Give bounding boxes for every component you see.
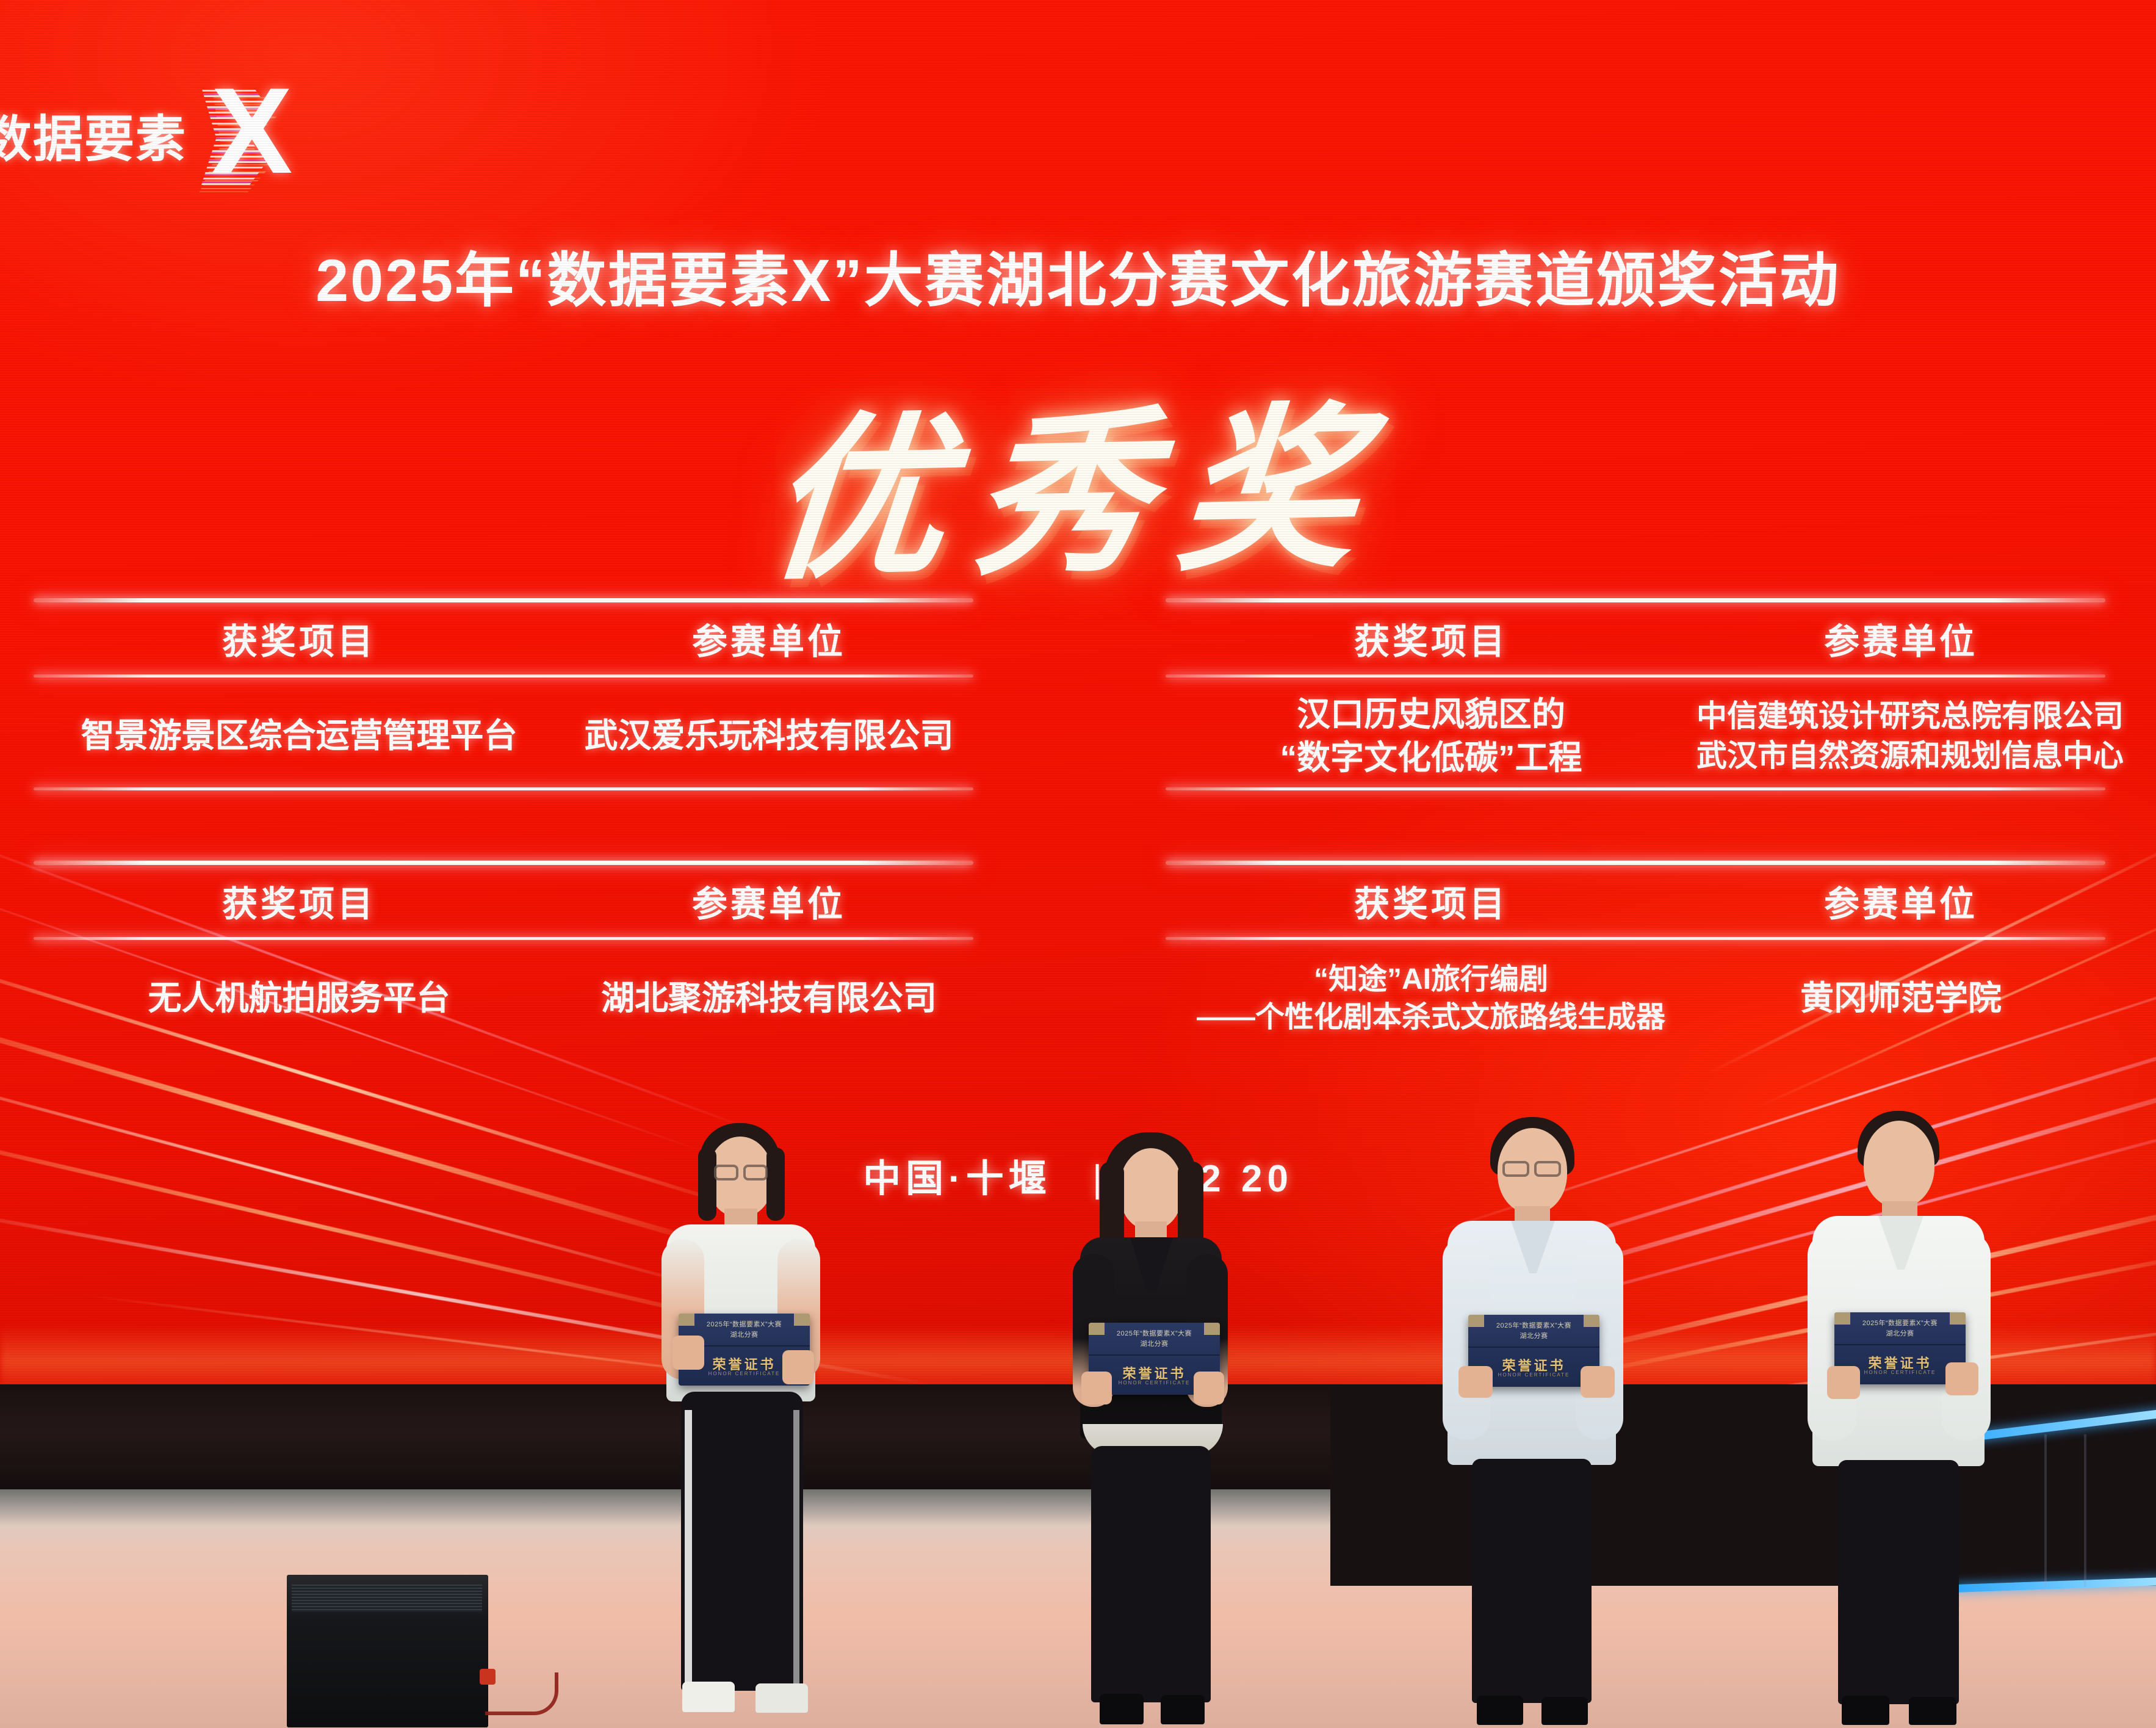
panel-divider xyxy=(2084,1434,2086,1587)
table-header-row: 获奖项目 参赛单位 xyxy=(34,602,973,674)
brand-logo: 数据要素 X xyxy=(0,73,269,195)
awardee-4: 2025年“数据要素X”大赛湖北分赛 荣誉证书 HONOR CERTIFICAT… xyxy=(1800,1111,2002,1727)
event-title: 2025年“数据要素X”大赛湖北分赛文化旅游赛道颁奖活动 xyxy=(0,232,2156,318)
brand-logo-mark: X xyxy=(211,79,303,189)
shoe-right xyxy=(1541,1697,1588,1725)
cell-unit-line: 中信建筑设计研究总院有限公司 xyxy=(1696,696,2105,736)
table-rule-top xyxy=(34,598,973,602)
cell-project-line: 无人机航拍服务平台 xyxy=(34,977,564,1021)
header-project: 获奖项目 xyxy=(1354,622,1508,662)
shoe-right xyxy=(1909,1697,1956,1725)
trousers xyxy=(1838,1460,1959,1704)
header-project: 获奖项目 xyxy=(1354,884,1508,924)
shoe-right xyxy=(1161,1695,1205,1724)
certificate-event-text: 2025年“数据要素X”大赛湖北分赛 xyxy=(1468,1321,1599,1341)
header-unit: 参赛单位 xyxy=(1824,622,1978,662)
table-rule-top xyxy=(1166,861,2105,865)
hand-right xyxy=(1945,1362,1978,1395)
table-rule-mid xyxy=(34,937,973,940)
hand-left xyxy=(1081,1372,1112,1404)
hand-right xyxy=(1194,1372,1224,1404)
hand-left xyxy=(672,1336,704,1370)
hand-right xyxy=(782,1350,814,1384)
glasses-icon xyxy=(1534,1161,1561,1177)
glitch-x-icon: X xyxy=(193,76,269,192)
table-row: 智景游景区综合运营管理平台 武汉爱乐玩科技有限公司 xyxy=(34,678,973,787)
award-table-left-bottom: 获奖项目 参赛单位 无人机航拍服务平台 湖北聚游科技有限公司 xyxy=(34,861,973,1050)
hand-right xyxy=(1581,1366,1615,1398)
table-row: 无人机航拍服务平台 湖北聚游科技有限公司 xyxy=(34,940,973,1050)
cell-unit-line: 黄冈师范学院 xyxy=(1696,977,2105,1021)
power-cable xyxy=(485,1672,558,1715)
ceremony-stage-photo: 数据要素 X 2025年“数据要素X”大赛湖北分赛文化旅游赛道颁奖活动 优秀奖 … xyxy=(0,0,2156,1728)
cell-project-line: ——个性化剧本杀式文旅路线生成器 xyxy=(1166,999,1696,1036)
table-row: 汉口历史风貌区的 “数字文化低碳”工程 中信建筑设计研究总院有限公司 武汉市自然… xyxy=(1166,678,2105,787)
header-unit: 参赛单位 xyxy=(692,622,846,662)
shoe-left xyxy=(682,1682,735,1712)
cell-unit-line: 武汉市自然资源和规划信息中心 xyxy=(1696,736,2105,776)
table-rule-top xyxy=(34,861,973,865)
award-tables: 获奖项目 参赛单位 智景游景区综合运营管理平台 武汉爱乐玩科技有限公司 获奖项目… xyxy=(0,598,2156,1099)
cell-unit-line: 武汉爱乐玩科技有限公司 xyxy=(564,714,973,758)
shoe-right xyxy=(755,1683,808,1713)
certificate-event-text: 2025年“数据要素X”大赛湖北分赛 xyxy=(1089,1329,1220,1349)
table-header-row: 获奖项目 参赛单位 xyxy=(1166,602,2105,674)
cell-project-line: 智景游景区综合运营管理平台 xyxy=(34,714,564,758)
cell-unit-line: 湖北聚游科技有限公司 xyxy=(564,977,973,1021)
panel-divider xyxy=(2044,1434,2047,1587)
cell-project-line: “数字文化低碳”工程 xyxy=(1166,736,1696,780)
award-table-left-top: 获奖项目 参赛单位 智景游景区综合运营管理平台 武汉爱乐玩科技有限公司 xyxy=(34,598,973,790)
certificate-event-text: 2025年“数据要素X”大赛湖北分赛 xyxy=(1834,1318,1966,1339)
award-table-right-top: 获奖项目 参赛单位 汉口历史风貌区的 “数字文化低碳”工程 中信建筑设计研究总院… xyxy=(1166,598,2105,790)
awardee-1: 2025年“数据要素X”大赛湖北分赛 荣誉证书 HONOR CERTIFICAT… xyxy=(647,1123,842,1727)
glasses-icon xyxy=(1502,1161,1529,1177)
header-project: 获奖项目 xyxy=(222,622,376,662)
awardee-3: 2025年“数据要素X”大赛湖北分赛 荣誉证书 HONOR CERTIFICAT… xyxy=(1434,1117,1635,1727)
table-rule-mid xyxy=(34,674,973,678)
face xyxy=(1864,1121,1934,1207)
cell-project-line: 汉口历史风貌区的 xyxy=(1166,693,1696,737)
awardee-2: 2025年“数据要素X”大赛湖北分赛 荣誉证书 HONOR CERTIFICAT… xyxy=(1056,1132,1251,1728)
table-row: “知途”AI旅行编剧 ——个性化剧本杀式文旅路线生成器 黄冈师范学院 xyxy=(1166,940,2105,1050)
glasses-icon xyxy=(714,1165,738,1180)
shoe-left xyxy=(1477,1696,1523,1725)
table-rule-mid xyxy=(1166,937,2105,940)
trousers xyxy=(1472,1459,1592,1703)
cable-plug xyxy=(480,1669,496,1685)
face xyxy=(1119,1148,1183,1230)
header-project: 获奖项目 xyxy=(222,884,376,924)
header-unit: 参赛单位 xyxy=(1824,884,1978,924)
footer-location: 中国·十堰 xyxy=(863,1158,1051,1200)
cell-project-line: “知途”AI旅行编剧 xyxy=(1166,961,1696,999)
table-header-row: 获奖项目 参赛单位 xyxy=(34,865,973,937)
award-name-calligraphy: 优秀奖 xyxy=(0,328,2156,630)
hair-side xyxy=(698,1148,716,1221)
trouser-stripe xyxy=(793,1410,799,1685)
trouser-stripe xyxy=(685,1410,692,1685)
table-rule-top xyxy=(1166,598,2105,602)
table-rule-bottom xyxy=(34,787,973,790)
table-rule-mid xyxy=(1166,674,2105,678)
table-header-row: 获奖项目 参赛单位 xyxy=(1166,865,2105,937)
shoe-left xyxy=(1100,1694,1144,1724)
shoe-left xyxy=(1842,1696,1889,1725)
brand-logo-text: 数据要素 xyxy=(0,98,187,171)
header-unit: 参赛单位 xyxy=(692,884,846,924)
hand-left xyxy=(1458,1366,1493,1398)
hair-side xyxy=(766,1148,785,1221)
trousers xyxy=(1091,1446,1211,1702)
hand-left xyxy=(1827,1366,1860,1399)
glasses-icon xyxy=(743,1165,768,1180)
table-rule-bottom xyxy=(1166,787,2105,790)
award-table-right-bottom: 获奖项目 参赛单位 “知途”AI旅行编剧 ——个性化剧本杀式文旅路线生成器 黄冈… xyxy=(1166,861,2105,1050)
trousers xyxy=(681,1392,803,1691)
speaker-grill xyxy=(292,1585,482,1612)
